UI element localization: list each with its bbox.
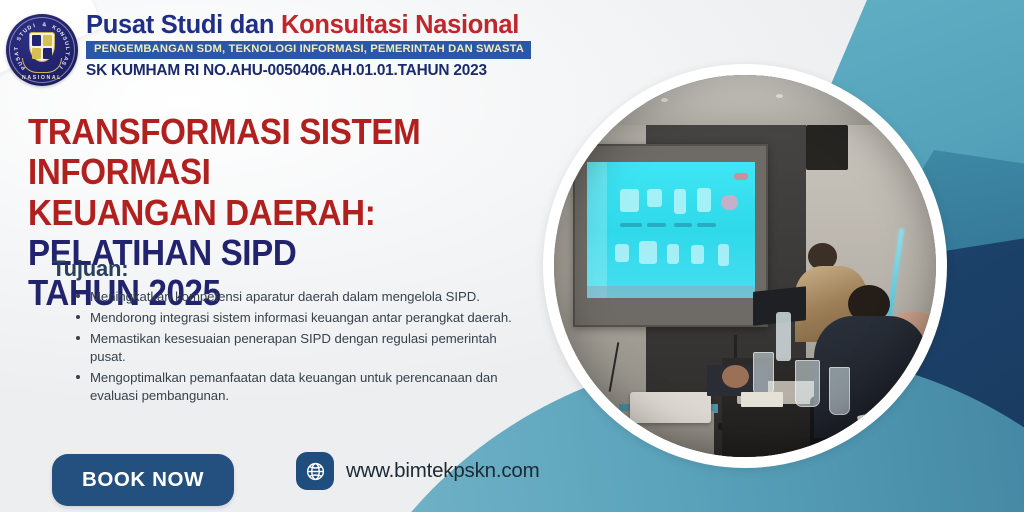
brand-text-block: Pusat Studi dan Konsultasi Nasional PENG… xyxy=(86,6,531,80)
title-line-2-red: KEUANGAN DAERAH: xyxy=(28,192,375,233)
logo-bottom-text: NASIONAL xyxy=(6,75,78,81)
website-block[interactable]: www.bimtekpskn.com xyxy=(296,452,539,490)
organization-name: Pusat Studi dan Konsultasi Nasional xyxy=(86,12,531,39)
organization-name-part2: Konsultasi Nasional xyxy=(281,11,519,39)
objective-item: Memastikan kesesuaian penerapan SIPD den… xyxy=(90,330,532,366)
objective-item: Mendorong integrasi sistem informasi keu… xyxy=(90,309,532,327)
title-line-1: TRANSFORMASI SISTEM INFORMASI xyxy=(28,112,516,193)
objective-item: Mengoptimalkan pemanfaatan data keuangan… xyxy=(90,369,532,405)
brand-header: PUSAT STUDI & KONSULTASI NASIONAL Pusat … xyxy=(0,6,620,92)
objectives-heading: Tujuan: xyxy=(52,256,532,282)
organization-tagline: PENGEMBANGAN SDM, TEKNOLOGI INFORMASI, P… xyxy=(86,41,531,59)
objectives-section: Tujuan: Meningkatkan kompetensi aparatur… xyxy=(52,256,532,408)
organization-name-part1: Pusat Studi dan xyxy=(86,11,281,39)
photo-inner xyxy=(554,75,936,457)
training-session-photo xyxy=(543,64,947,468)
organization-logo-icon: PUSAT STUDI & KONSULTASI NASIONAL xyxy=(6,14,78,86)
objectives-list: Meningkatkan kompetensi aparatur daerah … xyxy=(52,288,532,405)
globe-icon xyxy=(296,452,334,490)
website-url[interactable]: www.bimtekpskn.com xyxy=(346,459,539,483)
book-now-button[interactable]: BOOK NOW xyxy=(52,454,234,506)
objective-item: Meningkatkan kompetensi aparatur daerah … xyxy=(90,288,532,306)
promo-poster: PUSAT STUDI & KONSULTASI NASIONAL Pusat … xyxy=(0,0,1024,512)
photo-vignette xyxy=(554,75,936,457)
legal-registration-line: SK KUMHAM RI NO.AHU-0050406.AH.01.01.TAH… xyxy=(86,62,531,80)
